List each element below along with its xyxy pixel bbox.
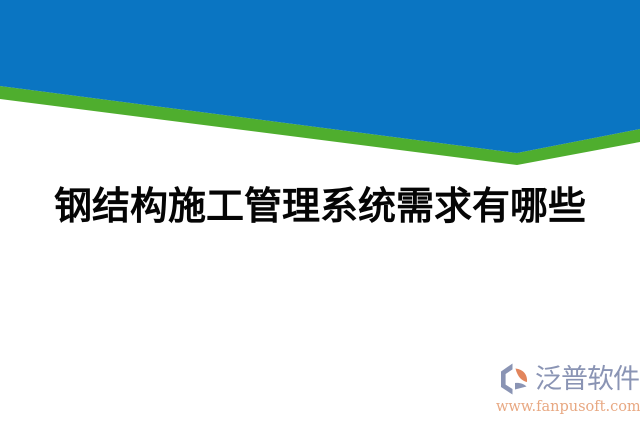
page-title: 钢结构施工管理系统需求有哪些 bbox=[54, 186, 586, 228]
brand-watermark: 泛普软件 www.fanpusoft.com bbox=[496, 359, 632, 421]
fanpu-logo-icon bbox=[498, 362, 534, 396]
top-banner bbox=[0, 0, 640, 165]
brand-logo-row: 泛普软件 bbox=[496, 359, 632, 399]
brand-name-text: 泛普软件 bbox=[535, 366, 639, 393]
page-title-container: 钢结构施工管理系统需求有哪些 bbox=[0, 186, 640, 228]
banner-shapes bbox=[0, 0, 640, 165]
slide-canvas: 钢结构施工管理系统需求有哪些 泛普软件 www.fanpusoft.com bbox=[0, 0, 640, 427]
brand-url-text: www.fanpusoft.com bbox=[496, 400, 632, 415]
